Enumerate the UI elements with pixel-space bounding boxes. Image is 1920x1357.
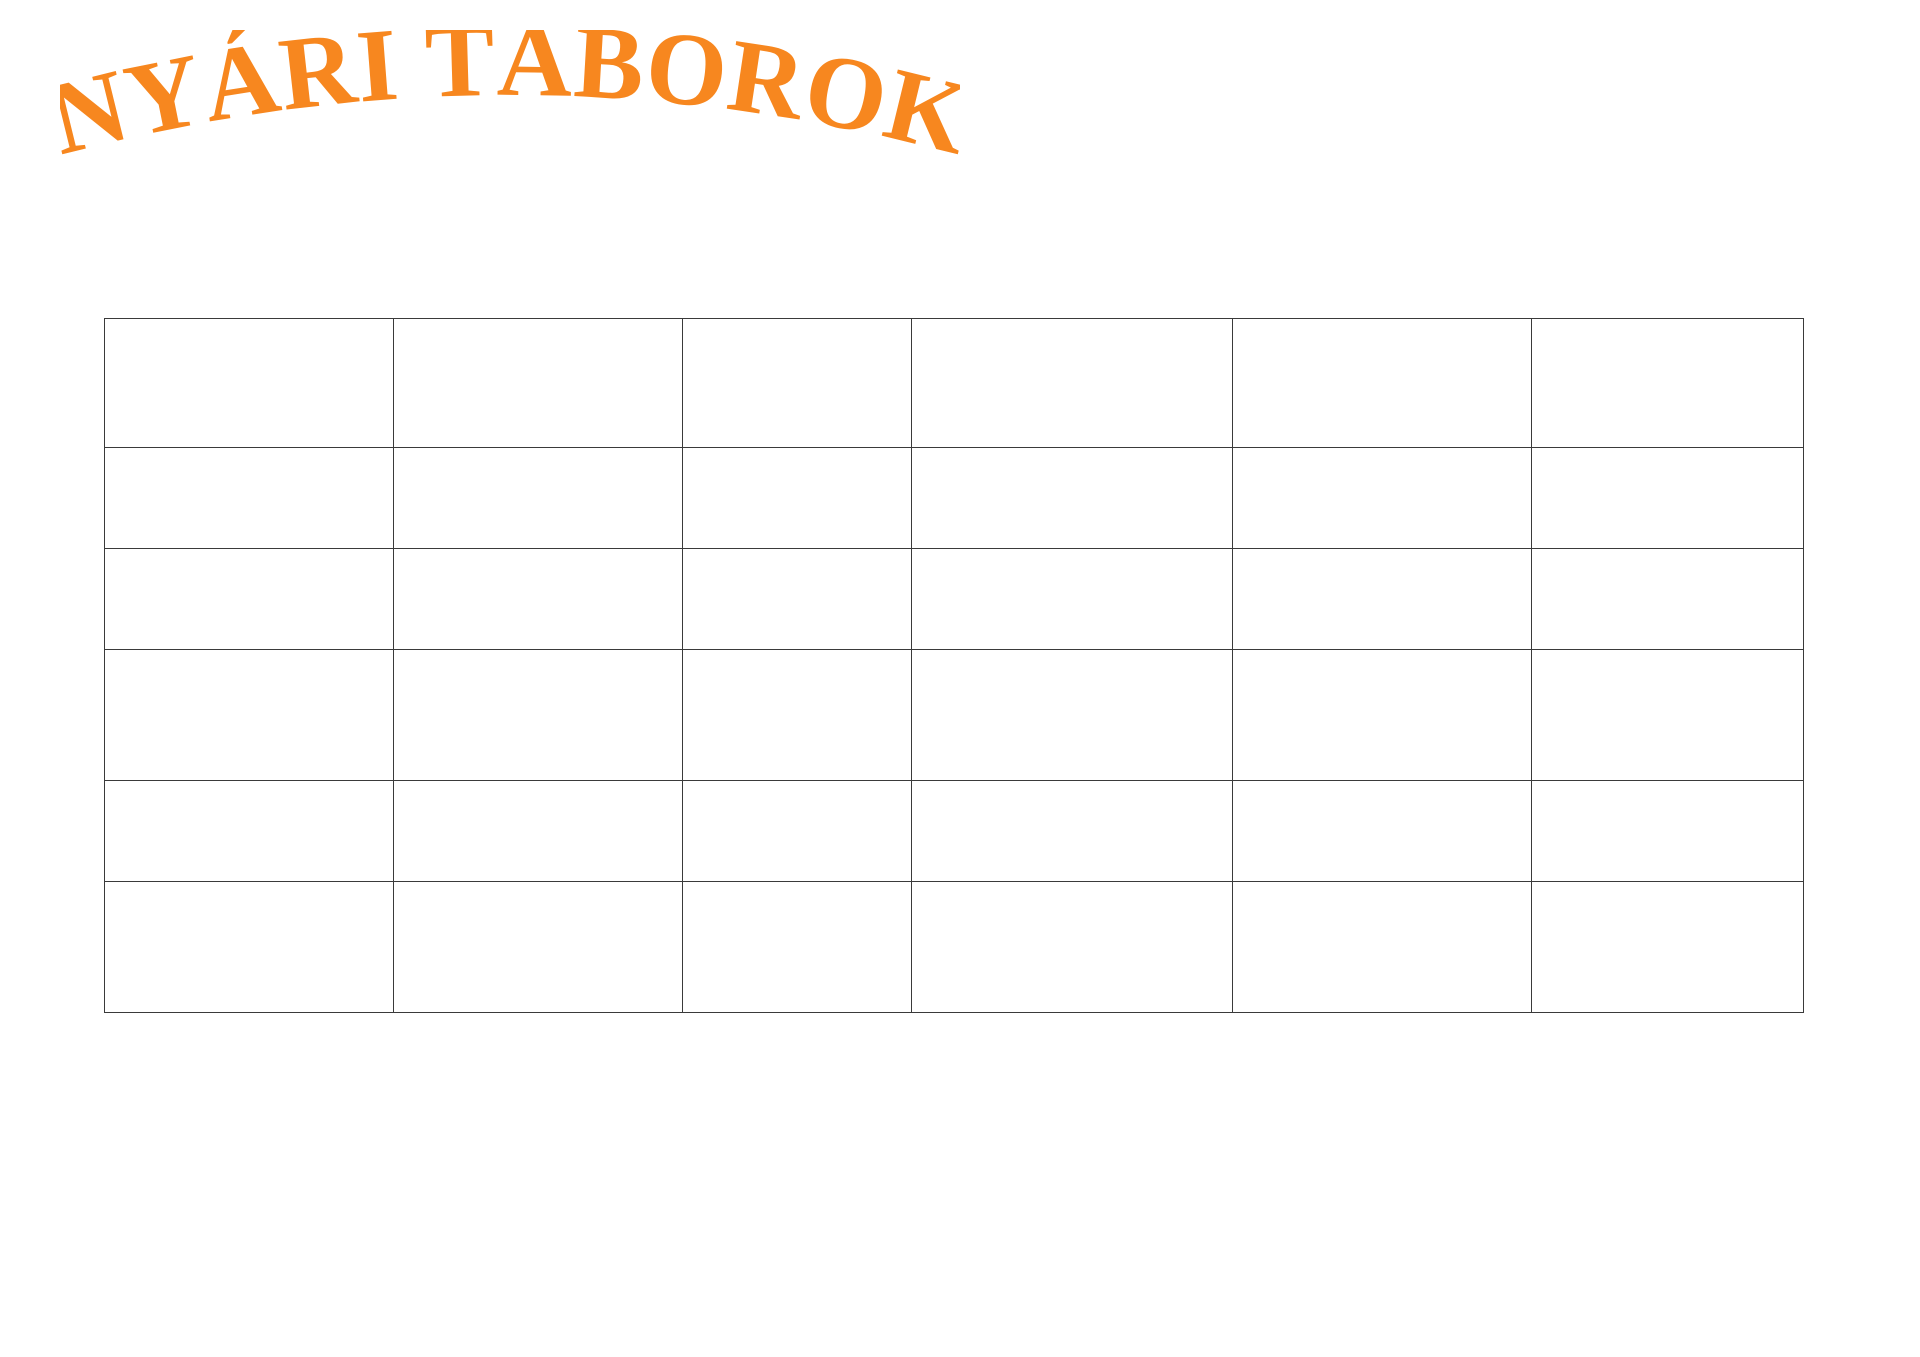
cell-teachers	[393, 650, 682, 781]
cell-fee	[1532, 448, 1804, 549]
cell-age-group	[682, 781, 911, 882]
table-header-row	[105, 319, 1804, 448]
cell-fee	[1532, 882, 1804, 1013]
table-row	[105, 650, 1804, 781]
cell-date	[912, 448, 1233, 549]
cell-location	[1232, 781, 1531, 882]
poster-header: NYÁRI TÁBOROK	[0, 0, 1920, 250]
poster-title-wordart: NYÁRI TÁBOROK	[60, 30, 960, 230]
cell-fee	[1532, 549, 1804, 650]
cell-camp-name	[105, 448, 394, 549]
table-row	[105, 549, 1804, 650]
column-header-age-group	[682, 319, 911, 448]
cell-camp-name	[105, 781, 394, 882]
cell-teachers	[393, 781, 682, 882]
table-row	[105, 448, 1804, 549]
cell-fee	[1532, 650, 1804, 781]
cell-camp-name	[105, 549, 394, 650]
cell-teachers	[393, 448, 682, 549]
cell-date	[912, 781, 1233, 882]
cell-camp-name	[105, 650, 394, 781]
cell-age-group	[682, 650, 911, 781]
cell-camp-name	[105, 882, 394, 1013]
cell-date	[912, 882, 1233, 1013]
camps-table	[104, 318, 1804, 1013]
cell-date	[912, 549, 1233, 650]
cell-location	[1232, 448, 1531, 549]
column-header-fee	[1532, 319, 1804, 448]
column-header-camp-name	[105, 319, 394, 448]
column-header-location	[1232, 319, 1531, 448]
cell-location	[1232, 549, 1531, 650]
cell-location	[1232, 882, 1531, 1013]
cell-date	[912, 650, 1233, 781]
cell-location	[1232, 650, 1531, 781]
page-title: NYÁRI TÁBOROK	[60, 30, 960, 177]
column-header-date	[912, 319, 1233, 448]
cell-teachers	[393, 882, 682, 1013]
cell-teachers	[393, 549, 682, 650]
cell-age-group	[682, 448, 911, 549]
cell-fee	[1532, 781, 1804, 882]
cell-age-group	[682, 549, 911, 650]
children-holding-hands-illustration	[150, 1000, 1790, 1200]
cell-age-group	[682, 882, 911, 1013]
column-header-teachers	[393, 319, 682, 448]
table-row	[105, 781, 1804, 882]
table-row	[105, 882, 1804, 1013]
camps-table-container	[104, 318, 1804, 1013]
